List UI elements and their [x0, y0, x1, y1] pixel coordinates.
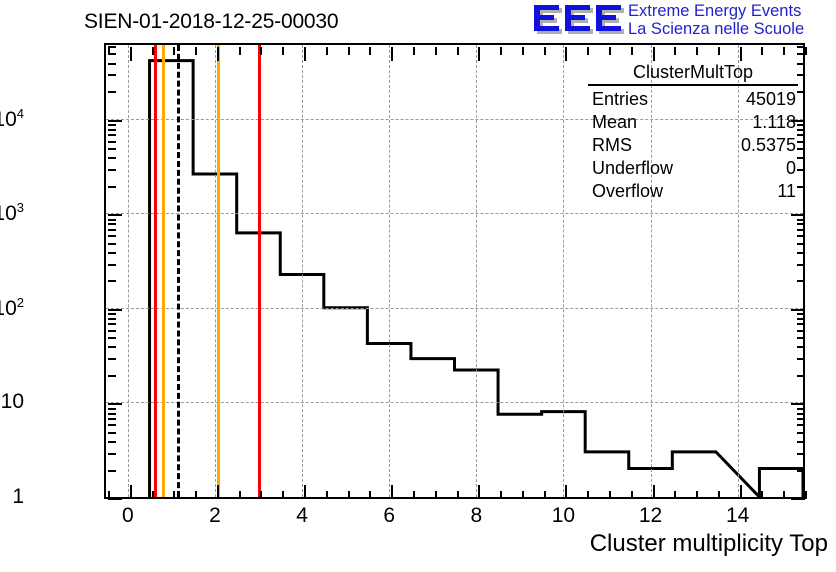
axis-tick	[791, 498, 805, 500]
axis-tick	[108, 424, 116, 426]
stats-row-value: 0.5375	[741, 134, 796, 157]
axis-tick	[797, 330, 805, 332]
marker-line-orange-left	[162, 45, 165, 497]
stats-row: Entries45019	[578, 88, 802, 111]
x-axis-tick-label: 2	[209, 504, 221, 528]
axis-tick	[797, 346, 805, 348]
page-title: SIEN-01-2018-12-25-00030	[84, 10, 338, 34]
axis-tick	[587, 491, 589, 499]
x-axis-tick-label: 6	[383, 504, 395, 528]
axis-tick	[544, 47, 546, 55]
stats-row: Overflow11	[578, 180, 802, 203]
axis-tick	[108, 134, 116, 136]
axis-tick	[797, 337, 805, 339]
axis-tick	[391, 47, 393, 61]
axis-tick	[369, 491, 371, 499]
gridline-vertical	[389, 45, 390, 497]
axis-tick	[108, 337, 116, 339]
axis-tick	[797, 318, 805, 320]
axis-tick	[108, 453, 116, 455]
axis-tick	[500, 47, 502, 55]
axis-tick	[718, 47, 720, 55]
axis-tick	[108, 498, 122, 500]
root-canvas: SIEN-01-2018-12-25-00030	[0, 0, 836, 572]
x-axis-tick-label: 10	[552, 504, 575, 528]
axis-tick	[108, 74, 116, 76]
axis-tick	[369, 47, 371, 55]
axis-tick	[152, 491, 154, 499]
gridline-horizontal	[106, 213, 803, 214]
axis-tick	[797, 453, 805, 455]
axis-tick	[108, 63, 116, 65]
axis-tick	[631, 491, 633, 499]
axis-tick	[631, 47, 633, 55]
axis-tick	[674, 47, 676, 55]
axis-tick	[108, 318, 116, 320]
axis-tick	[783, 47, 785, 55]
y-axis-tick-label: 10	[1, 390, 24, 414]
x-axis-tick-label: 12	[639, 504, 662, 528]
gridline-vertical	[215, 45, 216, 497]
axis-tick	[130, 485, 132, 499]
axis-tick	[173, 491, 175, 499]
marker-line-black-dashed	[177, 45, 180, 497]
stats-row-value: 11	[777, 180, 796, 203]
axis-tick	[130, 47, 132, 61]
axis-tick	[696, 491, 698, 499]
axis-tick	[108, 219, 116, 221]
axis-tick	[791, 214, 805, 216]
stats-row-label: Entries	[592, 88, 648, 111]
stats-box-title: ClusterMultTop	[588, 62, 798, 86]
axis-tick	[718, 491, 720, 499]
axis-tick	[195, 47, 197, 55]
gridline-vertical	[476, 45, 477, 497]
axis-tick	[696, 47, 698, 55]
axis-tick	[797, 470, 805, 472]
marker-line-red-right	[258, 45, 261, 497]
axis-tick	[609, 47, 611, 55]
axis-tick	[478, 47, 480, 61]
axis-tick	[797, 313, 805, 315]
axis-tick	[457, 47, 459, 55]
axis-tick	[761, 491, 763, 499]
axis-tick	[173, 47, 175, 55]
axis-tick	[108, 186, 116, 188]
axis-tick	[217, 47, 219, 61]
stats-row-value: 1.118	[752, 111, 796, 134]
axis-tick	[740, 47, 742, 61]
axis-tick	[565, 47, 567, 61]
axis-tick	[740, 485, 742, 499]
stats-row-label: RMS	[592, 134, 632, 157]
axis-tick	[435, 491, 437, 499]
gridline-horizontal	[106, 402, 803, 403]
axis-tick	[108, 375, 116, 377]
axis-tick	[413, 47, 415, 55]
stats-row-label: Mean	[592, 111, 637, 134]
axis-tick	[653, 47, 655, 61]
axis-tick	[108, 223, 116, 225]
axis-tick	[797, 413, 805, 415]
axis-tick	[413, 491, 415, 499]
x-axis-tick-label: 8	[470, 504, 482, 528]
axis-tick	[797, 243, 805, 245]
axis-tick	[108, 408, 116, 410]
axis-tick	[797, 46, 805, 48]
stats-row: Mean1.118	[578, 111, 802, 134]
axis-tick	[304, 47, 306, 61]
axis-tick	[108, 141, 116, 143]
axis-tick	[797, 358, 805, 360]
axis-tick	[391, 485, 393, 499]
axis-tick	[108, 46, 116, 48]
axis-tick	[108, 346, 116, 348]
axis-tick	[282, 47, 284, 55]
axis-tick	[522, 491, 524, 499]
axis-tick	[108, 169, 116, 171]
axis-tick	[326, 491, 328, 499]
axis-tick	[108, 91, 116, 93]
axis-tick	[217, 485, 219, 499]
axis-tick	[108, 53, 116, 55]
axis-tick	[791, 403, 805, 405]
stats-rows: Entries45019Mean1.118RMS0.5375Underflow0…	[578, 88, 802, 203]
axis-tick	[805, 491, 807, 499]
axis-tick	[797, 418, 805, 420]
axis-tick	[797, 408, 805, 410]
eee-logo-line1: Extreme Energy Events	[628, 2, 804, 20]
eee-logo-line2: La Scienza nelle Scuole	[628, 20, 804, 38]
axis-tick	[304, 485, 306, 499]
axis-tick	[108, 264, 116, 266]
axis-tick	[260, 47, 262, 55]
axis-tick	[108, 129, 116, 131]
y-axis-tick-label: 102	[0, 295, 24, 321]
axis-tick	[674, 491, 676, 499]
gridline-vertical	[302, 45, 303, 497]
stats-row: RMS0.5375	[578, 134, 802, 157]
y-axis-tick-label: 104	[0, 106, 24, 132]
axis-tick	[797, 264, 805, 266]
axis-tick	[587, 47, 589, 55]
axis-tick	[609, 491, 611, 499]
stats-box: ClusterMultTop Entries45019Mean1.118RMS0…	[578, 62, 802, 203]
axis-tick	[797, 53, 805, 55]
axis-tick	[797, 235, 805, 237]
axis-tick	[797, 424, 805, 426]
axis-tick	[797, 432, 805, 434]
axis-tick	[797, 223, 805, 225]
axis-tick	[108, 413, 116, 415]
eee-logo-mark-icon	[532, 2, 624, 38]
axis-tick	[805, 47, 807, 55]
axis-tick	[326, 47, 328, 55]
axis-tick	[239, 491, 241, 499]
axis-tick	[797, 229, 805, 231]
axis-tick	[791, 309, 805, 311]
axis-tick	[108, 441, 116, 443]
axis-tick	[348, 47, 350, 55]
axis-tick	[797, 441, 805, 443]
marker-line-red-left	[154, 45, 157, 497]
axis-tick	[108, 214, 122, 216]
axis-tick	[108, 229, 116, 231]
gridline-vertical	[128, 45, 129, 497]
axis-tick	[797, 280, 805, 282]
axis-tick	[500, 491, 502, 499]
x-axis-tick-label: 0	[122, 504, 134, 528]
axis-tick	[108, 235, 116, 237]
axis-tick	[108, 280, 116, 282]
axis-tick	[797, 219, 805, 221]
axis-tick	[152, 47, 154, 55]
axis-tick	[108, 418, 116, 420]
axis-tick	[108, 470, 116, 472]
stats-row-label: Overflow	[592, 180, 663, 203]
stats-row-value: 45019	[746, 88, 796, 111]
axis-tick	[108, 252, 116, 254]
axis-tick	[108, 313, 116, 315]
axis-tick	[653, 485, 655, 499]
axis-tick	[195, 491, 197, 499]
axis-tick	[348, 491, 350, 499]
axis-tick	[544, 491, 546, 499]
eee-logo: Extreme Energy Events La Scienza nelle S…	[532, 2, 832, 40]
axis-tick	[761, 47, 763, 55]
axis-tick	[797, 375, 805, 377]
axis-tick	[108, 309, 122, 311]
axis-tick	[108, 432, 116, 434]
y-axis-tick-label: 1	[12, 485, 24, 509]
eee-logo-text: Extreme Energy Events La Scienza nelle S…	[628, 2, 804, 38]
axis-tick	[108, 120, 122, 122]
gridline-horizontal	[106, 308, 803, 309]
axis-tick	[108, 323, 116, 325]
x-axis-tick-label: 4	[296, 504, 308, 528]
marker-line-orange-right	[217, 45, 220, 497]
axis-tick	[239, 47, 241, 55]
axis-tick	[108, 330, 116, 332]
axis-tick	[282, 491, 284, 499]
axis-tick	[797, 323, 805, 325]
axis-tick	[108, 124, 116, 126]
stats-row-value: 0	[786, 157, 796, 180]
x-axis-tick-label: 14	[726, 504, 749, 528]
axis-tick	[783, 491, 785, 499]
axis-tick	[108, 148, 116, 150]
stats-row: Underflow0	[578, 157, 802, 180]
axis-tick	[522, 47, 524, 55]
axis-tick	[435, 47, 437, 55]
axis-tick	[478, 485, 480, 499]
axis-tick	[457, 491, 459, 499]
x-axis-title: Cluster multiplicity Top	[590, 530, 828, 558]
axis-tick	[108, 403, 122, 405]
stats-row-label: Underflow	[592, 157, 673, 180]
y-axis-tick-label: 103	[0, 200, 24, 226]
axis-tick	[108, 157, 116, 159]
gridline-vertical	[563, 45, 564, 497]
axis-tick	[565, 485, 567, 499]
axis-tick	[108, 243, 116, 245]
axis-tick	[260, 491, 262, 499]
axis-tick	[797, 252, 805, 254]
axis-tick	[108, 358, 116, 360]
